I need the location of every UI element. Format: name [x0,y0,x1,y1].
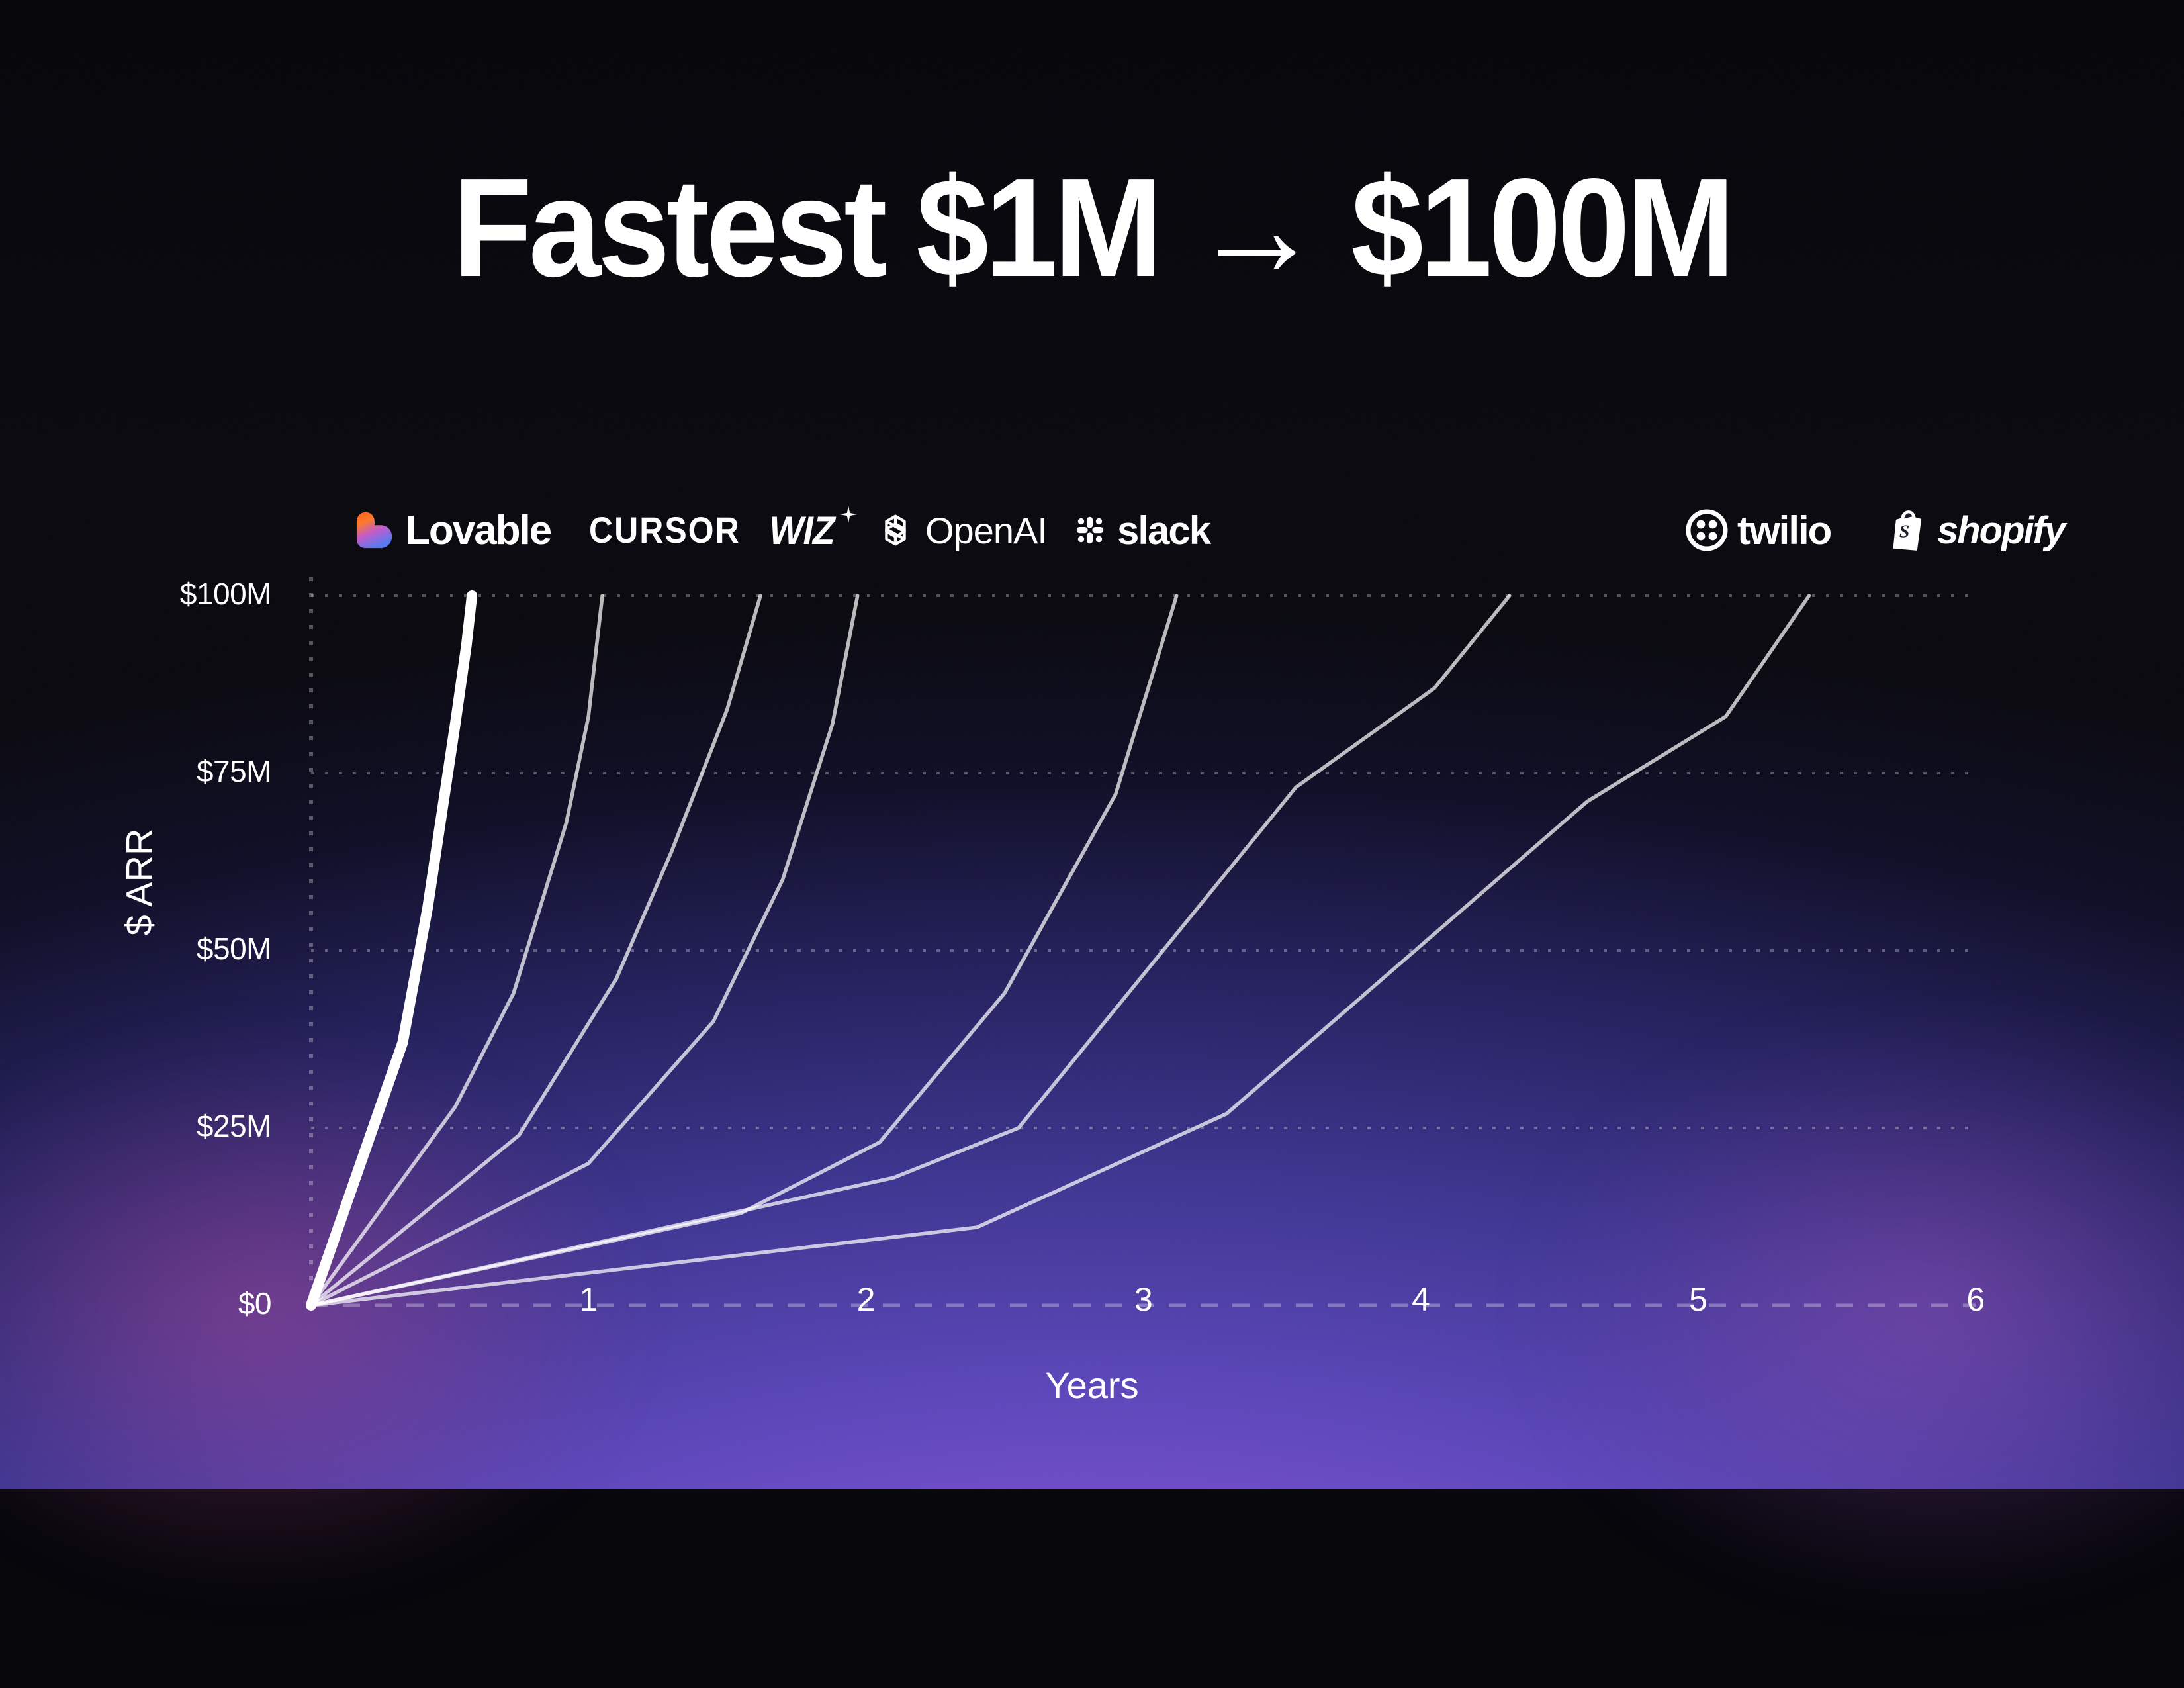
y-tick-label: $0 [73,1286,271,1321]
y-tick-label: $75M [73,753,271,789]
y-tick-label: $50M [73,931,271,966]
x-tick-label: 6 [1936,1280,2015,1319]
x-tick-label: 4 [1381,1280,1461,1319]
gridlines [311,577,1976,1305]
series-line-lovable[interactable] [311,596,472,1305]
chart-svg [0,0,2184,1489]
y-axis-title: $ ARR [118,770,161,995]
x-tick-label: 2 [826,1280,905,1319]
x-tick-label: 3 [1104,1280,1183,1319]
x-tick-label: 5 [1659,1280,1738,1319]
series-line-openai[interactable] [311,596,858,1305]
x-tick-label: 1 [549,1280,628,1319]
chart-plot-area: $0$25M$50M$75M$100M 123456 $ ARR Years [0,0,2184,1489]
x-axis-title: Years [0,1364,2184,1407]
y-tick-label: $25M [73,1108,271,1144]
y-tick-label: $100M [73,576,271,612]
